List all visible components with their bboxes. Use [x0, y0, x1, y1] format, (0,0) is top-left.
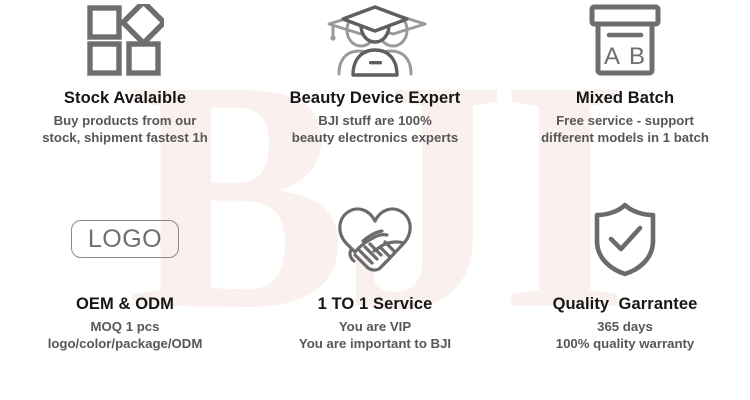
features-grid: Stock Avalaible Buy products from our st…	[0, 0, 750, 400]
feature-subtitle: Free service - support different models …	[541, 113, 709, 147]
logo-badge-text: LOGO	[88, 227, 162, 252]
feature-title: 1 TO 1 Service	[318, 295, 433, 314]
shield-check-icon	[590, 197, 660, 281]
feature-subtitle-line: 365 days	[556, 319, 695, 336]
feature-card-mixed-batch: A B Mixed Batch Free service - support d…	[500, 0, 750, 197]
box-ab-icon: A B	[589, 0, 661, 80]
feature-subtitle-line: beauty electronics experts	[292, 130, 458, 147]
svg-text:A: A	[604, 43, 620, 70]
svg-text:B: B	[629, 43, 645, 70]
feature-subtitle-line: BJI stuff are 100%	[292, 113, 458, 130]
feature-title: Quality Garrantee	[553, 295, 698, 314]
feature-grid-banner: BJI Stock Avalaible Buy products from ou…	[0, 0, 750, 400]
feature-subtitle-line: Buy products from our	[42, 113, 208, 130]
feature-title: OEM & ODM	[76, 295, 174, 314]
logo-badge-outline: LOGO	[71, 220, 179, 258]
feature-subtitle-line: different models in 1 batch	[541, 130, 709, 147]
feature-subtitle: BJI stuff are 100% beauty electronics ex…	[292, 113, 458, 147]
feature-subtitle-line: logo/color/package/ODM	[48, 336, 203, 353]
feature-subtitle-line: 100% quality warranty	[556, 336, 695, 353]
feature-title: Mixed Batch	[576, 89, 674, 108]
feature-subtitle-line: stock, shipment fastest 1h	[42, 130, 208, 147]
feature-subtitle: MOQ 1 pcs logo/color/package/ODM	[48, 319, 203, 353]
feature-subtitle-line: You are important to BJI	[299, 336, 451, 353]
feature-title: Beauty Device Expert	[290, 89, 461, 108]
graduates-icon	[321, 0, 429, 80]
feature-card-quality-guarantee: Quality Garrantee 365 days 100% quality …	[500, 197, 750, 400]
feature-subtitle: You are VIP You are important to BJI	[299, 319, 451, 353]
heart-handshake-icon	[333, 197, 417, 281]
feature-title: Stock Avalaible	[64, 89, 186, 108]
feature-card-one-to-one-service: 1 TO 1 Service You are VIP You are impor…	[250, 197, 500, 400]
four-tiles-icon	[86, 0, 164, 80]
feature-card-oem-odm: LOGO OEM & ODM MOQ 1 pcs logo/color/pack…	[0, 197, 250, 400]
feature-subtitle-line: MOQ 1 pcs	[48, 319, 203, 336]
feature-subtitle: 365 days 100% quality warranty	[556, 319, 695, 353]
feature-card-beauty-device-expert: Beauty Device Expert BJI stuff are 100% …	[250, 0, 500, 197]
logo-badge-icon: LOGO	[71, 197, 179, 281]
feature-subtitle: Buy products from our stock, shipment fa…	[42, 113, 208, 147]
feature-card-stock-available: Stock Avalaible Buy products from our st…	[0, 0, 250, 197]
feature-subtitle-line: Free service - support	[541, 113, 709, 130]
feature-subtitle-line: You are VIP	[299, 319, 451, 336]
